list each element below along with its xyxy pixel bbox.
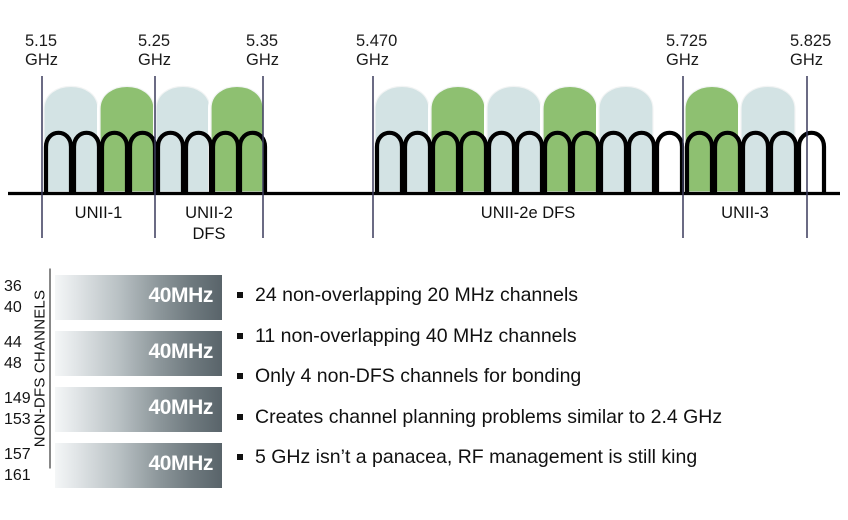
bonded-channel-numbers: 157161 (4, 444, 31, 486)
frequency-tick-label: 5.725GHz (666, 32, 707, 70)
channel-number-bottom: 48 (4, 353, 22, 374)
channel-number-top: 44 (4, 332, 22, 353)
bullet-item: Creates channel planning problems simila… (236, 405, 846, 429)
bonded-channel-numbers: 149153 (4, 388, 31, 430)
bullet-item: 11 non-overlapping 40 MHz channels (236, 324, 846, 348)
bullet-item: 5 GHz isn’t a panacea, RF management is … (236, 445, 846, 469)
bonded-width-label: 40MHz (148, 284, 213, 308)
non-dfs-channels-axis-title: NON-DFS CHANNELS (32, 269, 51, 469)
channel-number-top: 157 (4, 444, 31, 465)
bonding-row: 40MHz (55, 443, 222, 488)
bonded-width-label: 40MHz (148, 340, 213, 364)
bonded-width-label: 40MHz (148, 396, 213, 420)
bullet-item: 24 non-overlapping 20 MHz channels (236, 283, 846, 307)
bonding-row: 40MHz (55, 275, 222, 320)
bonding-row: 40MHz (55, 387, 222, 432)
bullet-square-icon (237, 373, 243, 379)
channel-number-top: 36 (4, 276, 22, 297)
bullet-text: 5 GHz isn’t a panacea, RF management is … (255, 446, 697, 468)
channel-20mhz-outline (799, 133, 824, 192)
bullet-square-icon (237, 414, 243, 420)
frequency-tick-label: 5.25GHz (138, 32, 171, 70)
bonded-width-label: 40MHz (148, 452, 213, 476)
bullet-square-icon (237, 292, 243, 298)
frequency-value: 5.25 (138, 32, 171, 51)
channel-number-bottom: 40 (4, 297, 22, 318)
frequency-value: 5.725 (666, 32, 707, 51)
frequency-unit: GHz (356, 51, 397, 70)
bullet-square-icon (237, 454, 243, 460)
frequency-unit: GHz (246, 51, 279, 70)
frequency-tick-label: 5.15GHz (25, 32, 58, 70)
frequency-unit: GHz (25, 51, 58, 70)
frequency-value: 5.15 (25, 32, 58, 51)
bullet-list: 24 non-overlapping 20 MHz channels11 non… (236, 283, 846, 486)
bonded-channel-numbers: 4448 (4, 332, 22, 374)
frequency-tick-label: 5.470GHz (356, 32, 397, 70)
band-label-unii-2e-dfs: UNII-2e DFS (373, 203, 683, 224)
frequency-value: 5.35 (246, 32, 279, 51)
channel-number-bottom: 153 (4, 409, 31, 430)
bullet-square-icon (237, 333, 243, 339)
channel-20mhz-outline (657, 133, 682, 192)
non-dfs-bonding-table: NON-DFS CHANNELS 40MHz364040MHz444840MHz… (0, 275, 232, 505)
band-label-unii-2: UNII-2DFS (155, 203, 263, 245)
bonding-row: 40MHz (55, 331, 222, 376)
frequency-tick-label: 5.825GHz (790, 32, 831, 70)
frequency-unit: GHz (666, 51, 707, 70)
band-name: UNII-1 (42, 203, 155, 224)
bullet-item: Only 4 non-DFS channels for bonding (236, 364, 846, 388)
slide-canvas: 5.15GHz5.25GHz5.35GHz5.470GHz5.725GHz5.8… (0, 0, 848, 520)
channel-number-top: 149 (4, 388, 31, 409)
band-label-unii-3: UNII-3 (683, 203, 807, 224)
band-name: UNII-2e DFS (373, 203, 683, 224)
bullet-text: Creates channel planning problems simila… (255, 406, 722, 428)
frequency-unit: GHz (138, 51, 171, 70)
frequency-unit: GHz (790, 51, 831, 70)
band-name: UNII-3 (683, 203, 807, 224)
bullet-text: 24 non-overlapping 20 MHz channels (255, 284, 578, 306)
band-subname: DFS (155, 224, 263, 245)
bullet-text: Only 4 non-DFS channels for bonding (255, 365, 581, 387)
bonded-channel-numbers: 3640 (4, 276, 22, 318)
frequency-value: 5.470 (356, 32, 397, 51)
spectrum-diagram: 5.15GHz5.25GHz5.35GHz5.470GHz5.725GHz5.8… (0, 0, 848, 262)
band-name: UNII-2 (155, 203, 263, 224)
frequency-tick-label: 5.35GHz (246, 32, 279, 70)
band-label-unii-1: UNII-1 (42, 203, 155, 224)
frequency-value: 5.825 (790, 32, 831, 51)
bullet-text: 11 non-overlapping 40 MHz channels (255, 325, 577, 347)
channel-number-bottom: 161 (4, 465, 31, 486)
